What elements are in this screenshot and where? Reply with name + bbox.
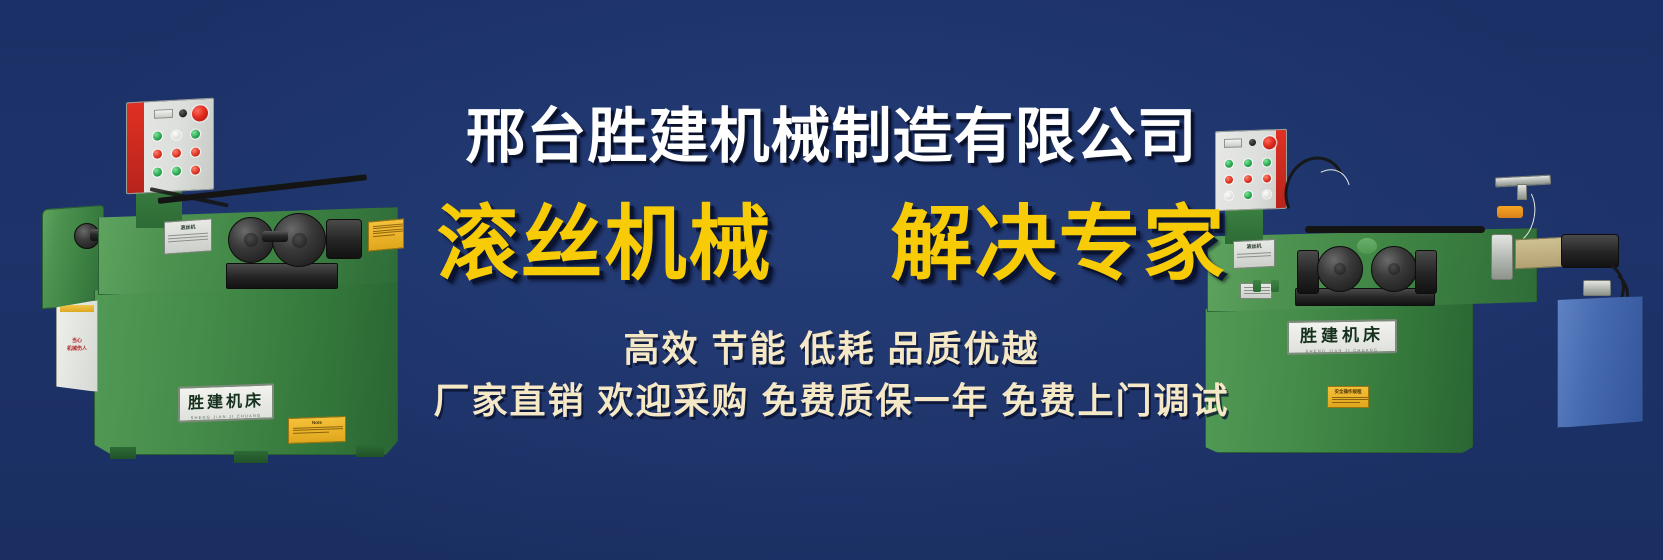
banner-copy: 邢台胜建机械制造有限公司 滚丝机械 解决专家 高效 节能 低耗 品质优越 厂家直… bbox=[0, 0, 1663, 560]
subline-offers: 厂家直销 欢迎采购 免费质保一年 免费上门调试 bbox=[0, 378, 1663, 424]
company-name: 邢台胜建机械制造有限公司 bbox=[0, 103, 1663, 171]
subline-benefits: 高效 节能 低耗 品质优越 bbox=[0, 326, 1663, 372]
headline-left: 滚丝机械 bbox=[436, 198, 772, 292]
promo-banner: 滚丝机 胜建机床 SHENG JIAN JI CHUANG Note bbox=[0, 0, 1663, 560]
headline-row: 滚丝机械 解决专家 bbox=[0, 198, 1663, 292]
headline-right: 解决专家 bbox=[891, 198, 1227, 292]
